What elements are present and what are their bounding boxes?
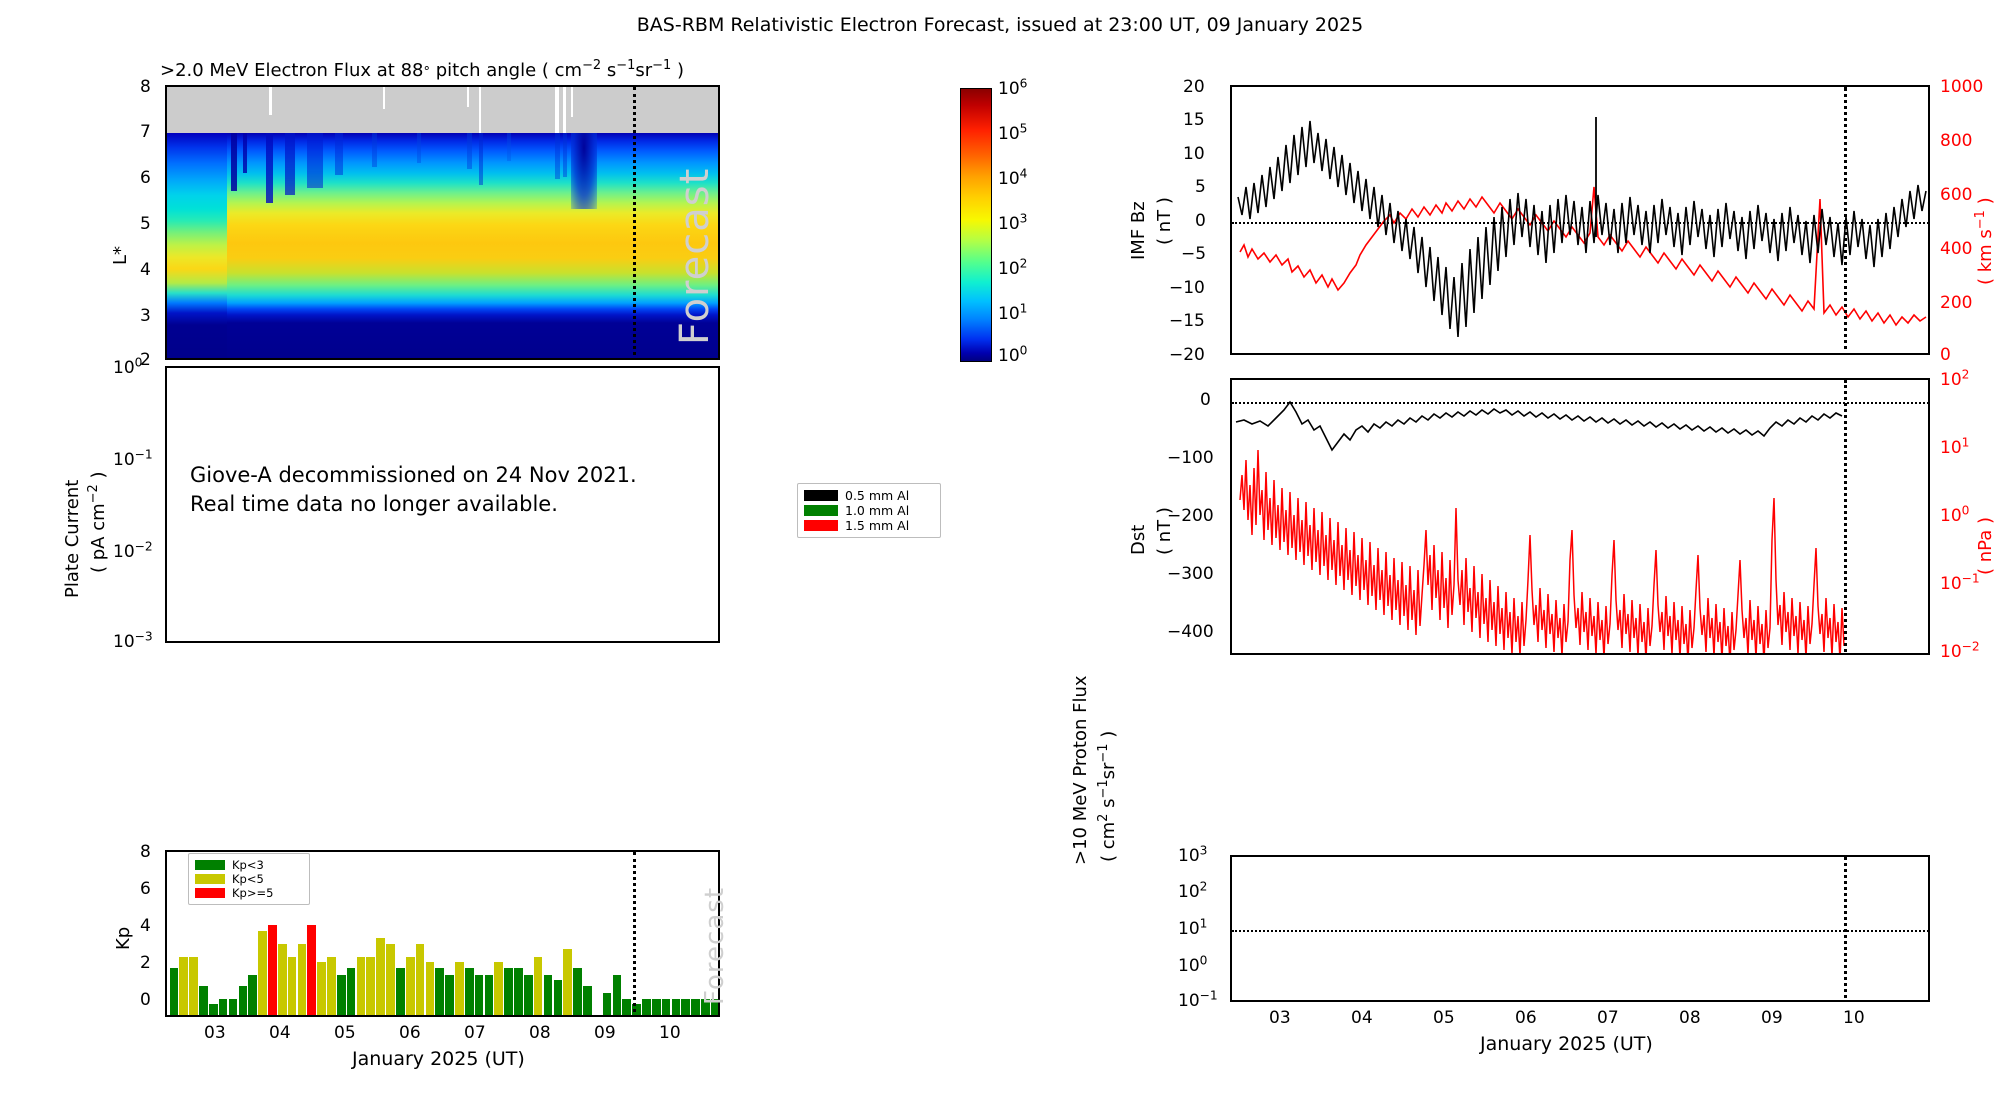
flux-early-region (167, 133, 227, 360)
kp-xtick: 07 (464, 1023, 486, 1043)
kp-bar (504, 968, 513, 1018)
kp-bar (416, 944, 425, 1017)
bz-forecast-divider (1844, 87, 1847, 355)
kp-xtick: 05 (334, 1023, 356, 1043)
dst-trace (1236, 402, 1842, 450)
dst-ytick: −100 (1167, 448, 1214, 468)
kp-bar (248, 975, 257, 1017)
kp-forecast-divider (633, 852, 636, 1017)
sw-velocity-trace (1240, 187, 1926, 325)
colorbar-tick: 105 (998, 124, 1027, 144)
kp-bar (258, 931, 267, 1017)
dst-ytick: 0 (1200, 390, 1211, 410)
kp-bar (524, 975, 533, 1017)
pressure-ytick: 101 (1940, 438, 1969, 458)
legend-label: Kp>=5 (232, 886, 273, 900)
kp-bar (229, 999, 238, 1017)
legend-item: 0.5 mm Al (804, 488, 934, 503)
bz-velocity-traces (1232, 87, 1930, 355)
legend-swatch-05mm (804, 490, 838, 501)
kp-bar (170, 968, 179, 1018)
kp-bar (268, 925, 277, 1017)
kp-xtick: 09 (594, 1023, 616, 1043)
bz-y-axis-label-line2: ( nT ) (1154, 197, 1175, 245)
legend-item: Kp<5 (195, 872, 303, 886)
proton-threshold-line (1232, 930, 1930, 932)
plate-y-axis-label-line1: Plate Current (62, 480, 83, 598)
legend-label: 0.5 mm Al (845, 488, 909, 503)
proton-ytick: 103 (1178, 846, 1207, 866)
kp-bar (514, 968, 523, 1018)
proton-ytick: 101 (1178, 919, 1207, 939)
bz-y-axis-label-line1: IMF Bz (1128, 201, 1149, 260)
kp-bar (662, 999, 671, 1017)
kp-bar (189, 957, 198, 1018)
kp-bar (278, 944, 287, 1017)
legend-label: 1.5 mm Al (845, 518, 909, 533)
kp-xtick: 04 (269, 1023, 291, 1043)
kp-panel: Forecast Kp 8 6 4 2 0 03 04 05 06 07 08 … (0, 845, 1000, 1075)
flux-ytick: 7 (140, 122, 151, 142)
proton-flux-panel: >10 MeV Proton Flux ( cm2 s−1sr−1 ) 103 … (1050, 650, 2000, 910)
flux-forecast-watermark: Forecast (672, 168, 718, 345)
kp-bar (485, 975, 494, 1017)
legend-label: Kp<5 (232, 872, 264, 886)
dst-zero-line (1232, 402, 1930, 404)
legend-swatch-kp-mid (195, 874, 225, 884)
flux-forecast-divider (633, 87, 636, 360)
plate-message-line2: Real time data no longer available. (190, 492, 558, 516)
legend-item: Kp<3 (195, 858, 303, 872)
kp-bar (376, 938, 385, 1017)
velocity-ytick: 600 (1940, 185, 1972, 205)
velocity-ytick: 1000 (1940, 77, 1983, 97)
pressure-ytick: 102 (1940, 370, 1969, 390)
colorbar-tick: 100 (998, 346, 1027, 366)
plate-ytick: 10−1 (113, 450, 153, 470)
colorbar-tick: 103 (998, 214, 1027, 234)
kp-bar (465, 968, 474, 1018)
dst-forecast-divider (1844, 380, 1847, 655)
bz-ytick: 10 (1183, 144, 1205, 164)
kp-xtick: 10 (659, 1023, 681, 1043)
flux-ytick: 6 (140, 168, 151, 188)
kp-bar (603, 993, 612, 1017)
kp-ytick: 4 (140, 916, 151, 936)
kp-forecast-watermark: Forecast (700, 887, 730, 1005)
sw-pressure-trace (1240, 450, 1844, 655)
velocity-ytick: 0 (1940, 345, 1951, 365)
proton-y-axis-label-line2: ( cm2 s−1sr−1 ) (1098, 731, 1119, 862)
kp-bar (583, 986, 592, 1017)
plate-y-axis-label-line2: ( pA cm−2 ) (88, 472, 109, 574)
proton-xtick: 07 (1597, 1008, 1619, 1028)
proton-xtick: 04 (1351, 1008, 1373, 1028)
bz-ytick: −20 (1169, 345, 1205, 365)
kp-bar (544, 975, 553, 1017)
pressure-ytick: 10−1 (1940, 574, 1980, 594)
kp-ytick: 0 (140, 990, 151, 1010)
proton-xtick: 05 (1433, 1008, 1455, 1028)
proton-plot-area (1230, 855, 1930, 1002)
plate-message-line1: Giove-A decommissioned on 24 Nov 2021. (190, 463, 637, 487)
kp-bar (426, 962, 435, 1017)
kp-bar (298, 944, 307, 1017)
plate-ytick: 10−3 (113, 632, 153, 652)
proton-y-axis-label-line1: >10 MeV Proton Flux (1070, 675, 1091, 865)
bz-ytick: 15 (1183, 110, 1205, 130)
kp-bar (199, 986, 208, 1017)
kp-bar (642, 999, 651, 1017)
proton-xtick: 06 (1515, 1008, 1537, 1028)
kp-bar (406, 957, 415, 1018)
imf-bz-trace (1238, 121, 1926, 337)
flux-nodata-band (167, 87, 720, 133)
plate-ytick: 100 (113, 358, 142, 378)
proton-xtick: 03 (1269, 1008, 1291, 1028)
colorbar-tick: 104 (998, 169, 1027, 189)
flux-plot-area (165, 85, 720, 360)
proton-ytick: 102 (1178, 882, 1207, 902)
flux-dropout-plume (571, 133, 597, 209)
bz-ytick: −15 (1169, 311, 1205, 331)
proton-ytick: 10−1 (1178, 991, 1218, 1011)
dst-ytick: −200 (1167, 506, 1214, 526)
legend-swatch-15mm (804, 520, 838, 531)
kp-bar (563, 949, 572, 1017)
velocity-y-axis-label-line2: ( km s−1 ) (1975, 197, 1996, 285)
kp-y-axis-label: Kp (113, 927, 134, 950)
dst-y-axis-label-line1: Dst (1128, 525, 1149, 555)
flux-heatmap (167, 133, 720, 360)
kp-bar (435, 968, 444, 1018)
kp-xtick: 08 (529, 1023, 551, 1043)
dst-pressure-traces (1232, 380, 1930, 655)
kp-legend: Kp<3 Kp<5 Kp>=5 (188, 853, 310, 905)
legend-item: Kp>=5 (195, 886, 303, 900)
kp-bar (209, 1004, 218, 1017)
colorbar-tick: 106 (998, 79, 1027, 99)
plate-current-panel: Plate Current ( pA cm−2 ) 100 10−1 10−2 … (0, 358, 1000, 648)
flux-panel-title: >2.0 MeV Electron Flux at 88° pitch angl… (160, 60, 684, 81)
kp-ytick: 2 (140, 953, 151, 973)
velocity-ytick: 400 (1940, 239, 1972, 259)
bz-ytick: 0 (1195, 211, 1206, 231)
bz-plot-area (1230, 85, 1930, 355)
bz-velocity-panel: IMF Bz ( nT ) 20 15 10 5 0 −5 −10 −15 −2… (1050, 50, 2000, 380)
flux-ytick: 8 (140, 77, 151, 97)
kp-bar (337, 975, 346, 1017)
dst-plot-area (1230, 378, 1930, 655)
kp-bar (455, 962, 464, 1017)
kp-xtick: 06 (399, 1023, 421, 1043)
kp-bar (357, 957, 366, 1018)
velocity-ytick: 200 (1940, 293, 1972, 313)
kp-bar (179, 957, 188, 1018)
plate-ytick: 10−2 (113, 542, 153, 562)
kp-bar (386, 944, 395, 1017)
kp-ytick: 8 (140, 842, 151, 862)
kp-bar (573, 968, 582, 1018)
flux-ytick: 4 (140, 260, 151, 280)
kp-bar (445, 975, 454, 1017)
kp-x-axis-label: January 2025 (UT) (352, 1048, 525, 1070)
velocity-ytick: 800 (1940, 131, 1972, 151)
bz-ytick: −5 (1181, 244, 1206, 264)
flux-ytick: 5 (140, 214, 151, 234)
bz-zero-line (1232, 222, 1930, 224)
dst-pressure-panel: Dst ( nT ) 0 −100 −200 −300 −400 102 101… (1050, 370, 2000, 660)
dst-ytick: −400 (1167, 622, 1214, 642)
kp-bar (317, 962, 326, 1017)
proton-xtick: 08 (1679, 1008, 1701, 1028)
kp-bar (494, 962, 503, 1017)
bz-ytick: −10 (1169, 278, 1205, 298)
kp-bar (681, 999, 690, 1017)
legend-label: 1.0 mm Al (845, 503, 909, 518)
kp-bar (622, 999, 631, 1017)
kp-bar (366, 957, 375, 1018)
kp-xtick: 03 (204, 1023, 226, 1043)
colorbar-tick: 101 (998, 304, 1027, 324)
kp-bar (554, 980, 563, 1017)
pressure-y-axis-label-line2: ( nPa ) (1975, 517, 1996, 575)
kp-bar (613, 975, 622, 1017)
page-title: BAS-RBM Relativistic Electron Forecast, … (0, 14, 2000, 36)
proton-xtick: 09 (1761, 1008, 1783, 1028)
kp-bar (307, 925, 316, 1017)
kp-bar (652, 999, 661, 1017)
legend-swatch-10mm (804, 505, 838, 516)
legend-swatch-kp-low (195, 860, 225, 870)
bz-ytick: 20 (1183, 77, 1205, 97)
proton-x-axis-label: January 2025 (UT) (1480, 1033, 1653, 1055)
proton-ytick: 100 (1178, 956, 1207, 976)
kp-bar (396, 968, 405, 1018)
legend-swatch-kp-high (195, 888, 225, 898)
flux-y-axis-label: L* (110, 246, 131, 265)
legend-label: Kp<3 (232, 858, 264, 872)
kp-bar (219, 999, 228, 1017)
proton-forecast-divider (1844, 857, 1847, 1002)
kp-bar (672, 999, 681, 1017)
kp-ytick: 6 (140, 879, 151, 899)
plate-legend: 0.5 mm Al 1.0 mm Al 1.5 mm Al (797, 483, 941, 538)
flux-colorbar (960, 88, 992, 362)
colorbar-tick: 102 (998, 259, 1027, 279)
kp-bar (327, 957, 336, 1018)
dst-ytick: −300 (1167, 564, 1214, 584)
bz-ytick: 5 (1195, 177, 1206, 197)
kp-bar (347, 968, 356, 1018)
kp-bar (534, 957, 543, 1018)
proton-xtick: 10 (1843, 1008, 1865, 1028)
flux-ytick: 3 (140, 306, 151, 326)
pressure-ytick: 100 (1940, 506, 1969, 526)
kp-bar (475, 975, 484, 1017)
kp-bar (288, 957, 297, 1018)
kp-bar (239, 986, 248, 1017)
kp-bar (691, 999, 700, 1017)
legend-item: 1.5 mm Al (804, 518, 934, 533)
legend-item: 1.0 mm Al (804, 503, 934, 518)
